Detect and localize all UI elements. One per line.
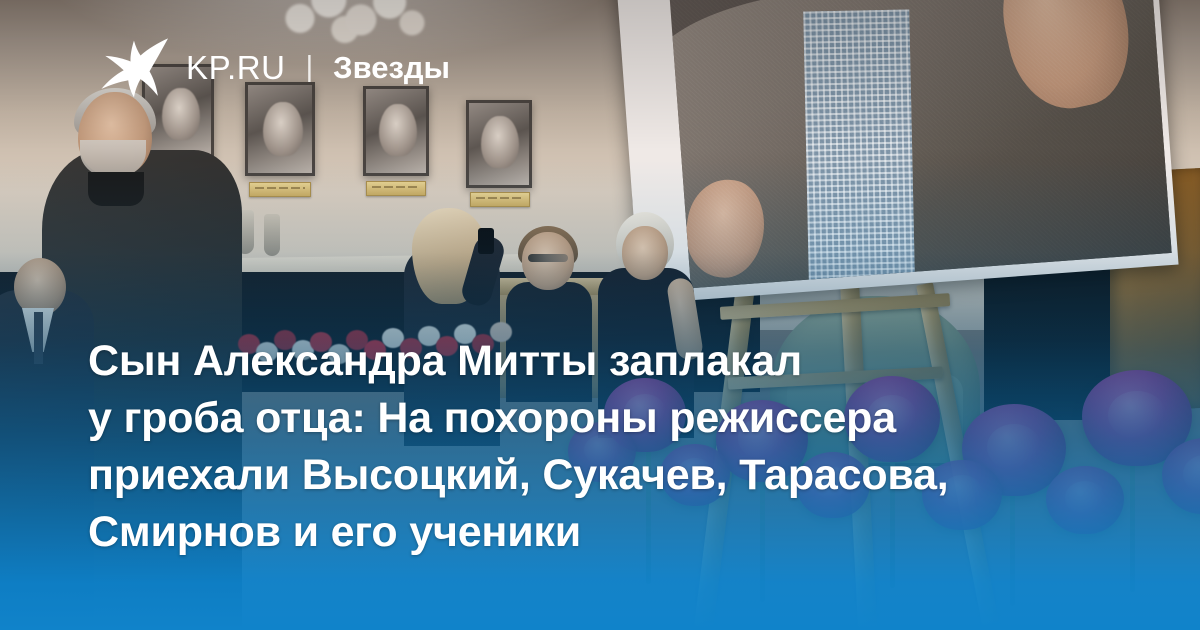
swallow-bird-icon — [96, 36, 170, 98]
brand-bar[interactable]: KP.RU | Звезды — [96, 36, 450, 98]
headline-line-1: Сын Александра Митты заплакал — [88, 333, 1098, 390]
social-share-card: KP.RU | Звезды Сын Александра Митты запл… — [0, 0, 1200, 630]
brand-name[interactable]: KP.RU — [186, 51, 286, 84]
article-headline: Сын Александра Митты заплакал у гроба от… — [88, 333, 1098, 561]
headline-line-4: Смирнов и его ученики — [88, 504, 1098, 561]
headline-line-3: приехали Высоцкий, Сукачев, Тарасова, — [88, 447, 1098, 504]
brand-separator: | — [306, 53, 314, 82]
brand-section-label[interactable]: Звезды — [333, 52, 450, 83]
headline-line-2: у гроба отца: На похороны режиссера — [88, 390, 1098, 447]
